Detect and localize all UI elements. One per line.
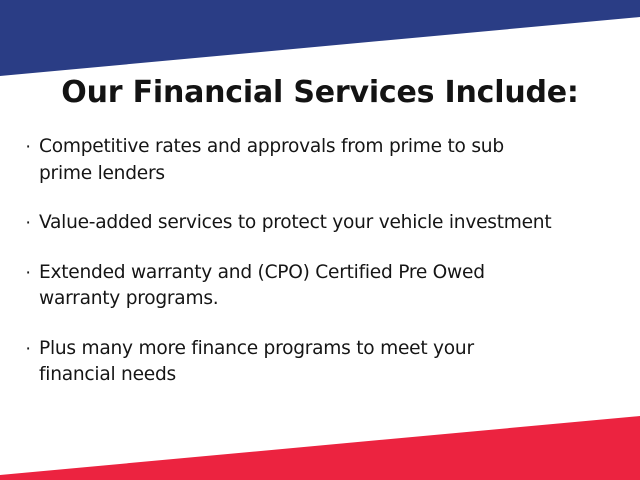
bullet-text: Extended warranty and (CPO) Certified Pr…: [39, 260, 620, 313]
blue-angled-shape: [0, 0, 640, 80]
bullet-marker-icon: ·: [25, 134, 39, 160]
page-title: Our Financial Services Include:: [0, 78, 640, 108]
list-item: · Extended warranty and (CPO) Certified …: [25, 260, 620, 313]
bottom-red-band: [0, 395, 640, 480]
bullet-text: Value-added services to protect your veh…: [39, 210, 620, 237]
bullet-text: Competitive rates and approvals from pri…: [39, 134, 620, 187]
list-item: · Competitive rates and approvals from p…: [25, 134, 620, 187]
red-angled-shape: [0, 395, 640, 480]
bullet-marker-icon: ·: [25, 260, 39, 286]
bullet-marker-icon: ·: [25, 336, 39, 362]
bullet-marker-icon: ·: [25, 210, 39, 236]
list-item: · Value-added services to protect your v…: [25, 210, 620, 237]
slide-canvas: Our Financial Services Include: · Compet…: [0, 0, 640, 480]
bullet-list: · Competitive rates and approvals from p…: [25, 134, 620, 389]
list-item: · Plus many more finance programs to mee…: [25, 336, 620, 389]
top-blue-band: [0, 0, 640, 80]
bullet-text: Plus many more finance programs to meet …: [39, 336, 620, 389]
